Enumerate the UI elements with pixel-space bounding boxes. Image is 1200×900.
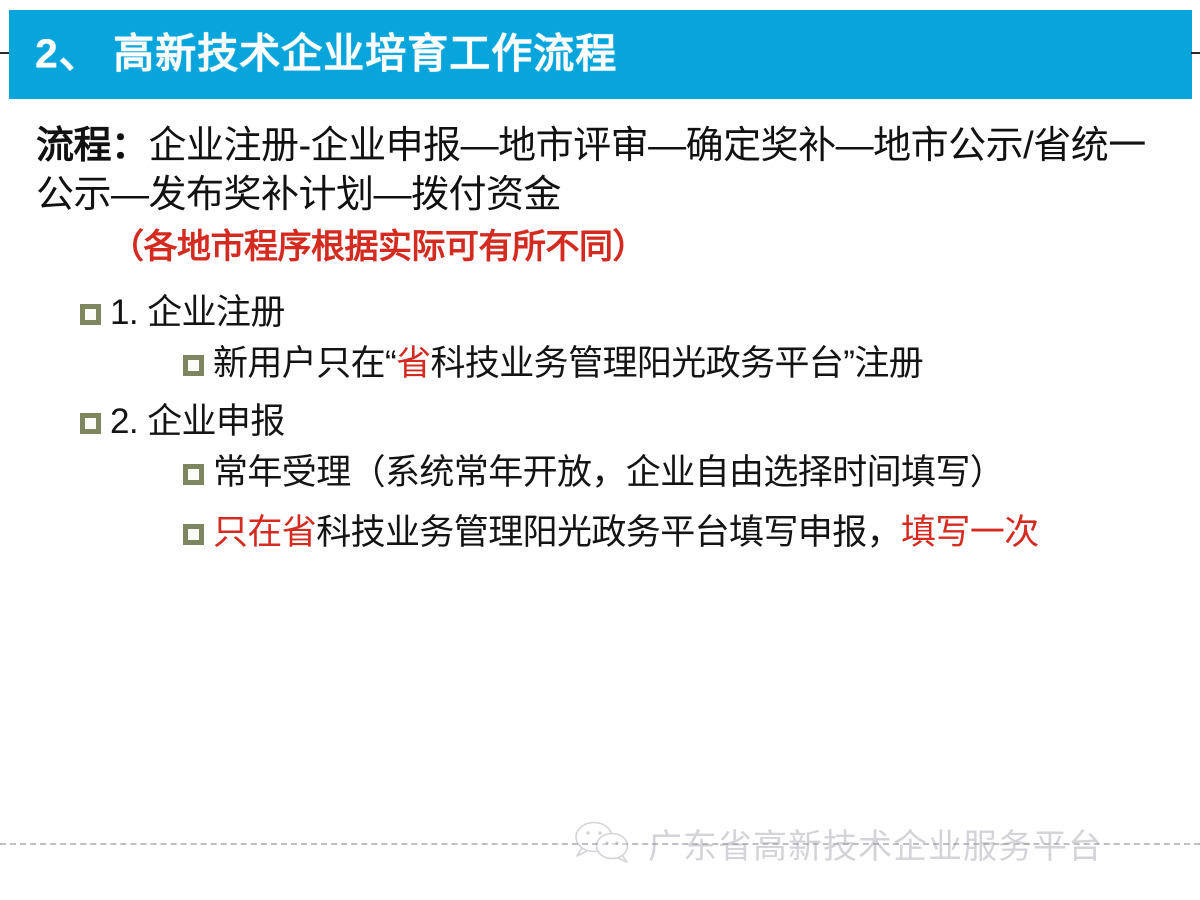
watermark: 广东省高新技术企业服务平台	[572, 818, 1103, 868]
list-item-label: 2. 企业申报	[110, 402, 285, 441]
list-item: 新用户只在“省科技业务管理阳光政务平台”注册	[183, 341, 1200, 387]
sub-item-tail-highlight: 填写一次	[901, 513, 1039, 552]
square-bullet-icon	[183, 524, 204, 545]
list-item: 1. 企业注册 新用户只在“省科技业务管理阳光政务平台”注册	[80, 290, 1200, 387]
flow-text: 企业注册-企业申报—地市评审—确定奖补—地市公示/省统一公示—发布奖补计划—拨付…	[36, 125, 1146, 216]
flow-lead-label: 流程：	[36, 125, 149, 167]
left-edge-tick	[0, 52, 9, 54]
sub-item-prefix: 新用户只在“	[213, 344, 396, 383]
list-item: 2. 企业申报 常年受理（系统常年开放，企业自由选择时间填写） 只在省科技业务管…	[80, 399, 1200, 556]
page-title: 2、 高新技术企业培育工作流程	[35, 33, 617, 74]
slide-header-banner: 2、 高新技术企业培育工作流程	[9, 10, 1192, 99]
slide-body: 流程：企业注册-企业申报—地市评审—确定奖补—地市公示/省统一公示—发布奖补计划…	[0, 104, 1200, 557]
sub-item-suffix: 科技业务管理阳光政务平台填写申报，	[316, 513, 901, 552]
list-item: 只在省科技业务管理阳光政务平台填写申报，填写一次	[183, 510, 1200, 556]
flow-paragraph: 流程：企业注册-企业申报—地市评审—确定奖补—地市公示/省统一公示—发布奖补计划…	[0, 104, 1200, 221]
square-bullet-icon	[183, 355, 204, 376]
square-bullet-icon	[183, 464, 204, 485]
sub-item-highlight: 省	[396, 344, 430, 383]
watermark-label: 广东省高新技术企业服务平台	[648, 819, 1103, 868]
slide-canvas: 2、 高新技术企业培育工作流程 流程：企业注册-企业申报—地市评审—确定奖补—地…	[0, 0, 1200, 900]
sub-item-highlight: 只在省	[213, 513, 316, 552]
list-item-label: 1. 企业注册	[110, 293, 285, 332]
flow-note: （各地市程序根据实际可有所不同）	[0, 227, 1200, 268]
sub-item-suffix: 常年受理（系统常年开放，企业自由选择时间填写）	[213, 453, 1004, 492]
sub-item-suffix: 科技业务管理阳光政务平台”注册	[430, 344, 923, 383]
square-bullet-icon	[80, 413, 101, 434]
list-item: 常年受理（系统常年开放，企业自由选择时间填写）	[183, 450, 1200, 496]
sub-outline-list: 新用户只在“省科技业务管理阳光政务平台”注册	[110, 341, 1200, 387]
wechat-icon	[572, 818, 636, 868]
sub-outline-list: 常年受理（系统常年开放，企业自由选择时间填写） 只在省科技业务管理阳光政务平台填…	[110, 450, 1200, 555]
outline-list: 1. 企业注册 新用户只在“省科技业务管理阳光政务平台”注册 2. 企业申报 常…	[0, 290, 1200, 556]
square-bullet-icon	[80, 304, 101, 325]
right-edge-tick	[1191, 52, 1200, 54]
